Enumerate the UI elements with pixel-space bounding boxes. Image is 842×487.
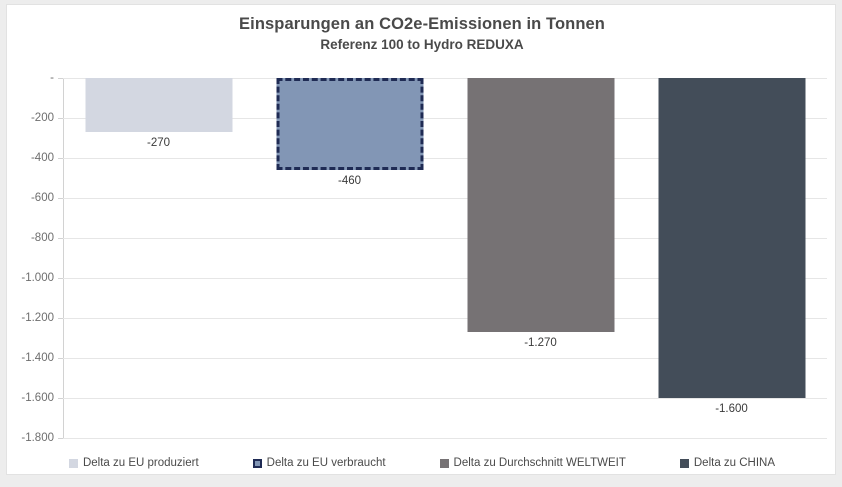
legend-swatch-icon [69, 459, 78, 468]
title-block: Einsparungen an CO2e-Emissionen in Tonne… [7, 13, 837, 55]
chart-container: Einsparungen an CO2e-Emissionen in Tonne… [6, 4, 836, 475]
y-axis-tick [58, 438, 63, 439]
bar[interactable] [467, 78, 614, 332]
bar[interactable] [658, 78, 805, 398]
chart-subtitle: Referenz 100 to Hydro REDUXA [7, 35, 837, 55]
chart-legend: Delta zu EU produziertDelta zu EU verbra… [7, 457, 837, 469]
y-axis-tick-label: -400 [31, 152, 54, 164]
y-axis-tick-label: -200 [31, 112, 54, 124]
legend-label: Delta zu Durchschnitt WELTWEIT [454, 457, 626, 469]
y-axis-tick-label: -1.000 [21, 272, 54, 284]
y-axis-tick-label: -1.600 [21, 392, 54, 404]
legend-label: Delta zu CHINA [694, 457, 775, 469]
legend-label: Delta zu EU verbraucht [267, 457, 386, 469]
legend-item[interactable]: Delta zu Durchschnitt WELTWEIT [440, 457, 626, 469]
bottom-band [0, 479, 842, 487]
y-axis-tick-label: -1.800 [21, 432, 54, 444]
bar[interactable] [85, 78, 232, 132]
plot-area: --200-400-600-800-1.000-1.200-1.400-1.60… [63, 78, 827, 438]
bar-slot: -1.270 [445, 78, 636, 438]
bar-value-label: -1.600 [715, 403, 748, 415]
bar-value-label: -270 [147, 137, 170, 149]
bar-slot: -1.600 [636, 78, 827, 438]
bar-value-label: -1.270 [524, 337, 557, 349]
legend-swatch-icon [440, 459, 449, 468]
legend-item[interactable]: Delta zu CHINA [680, 457, 775, 469]
legend-swatch-icon [253, 459, 262, 468]
y-axis-tick-label: -1.200 [21, 312, 54, 324]
legend-item[interactable]: Delta zu EU verbraucht [253, 457, 386, 469]
y-axis-tick-label: -600 [31, 192, 54, 204]
bar-value-label: -460 [338, 175, 361, 187]
legend-item[interactable]: Delta zu EU produziert [69, 457, 199, 469]
gridline [63, 438, 827, 439]
legend-swatch-icon [680, 459, 689, 468]
bar[interactable] [276, 78, 423, 170]
bar-slot: -270 [63, 78, 254, 438]
bar-slot: -460 [254, 78, 445, 438]
chart-title: Einsparungen an CO2e-Emissionen in Tonne… [7, 13, 837, 35]
y-axis-tick-label: - [50, 72, 54, 84]
legend-label: Delta zu EU produziert [83, 457, 199, 469]
y-axis-tick-label: -800 [31, 232, 54, 244]
y-axis-tick-label: -1.400 [21, 352, 54, 364]
